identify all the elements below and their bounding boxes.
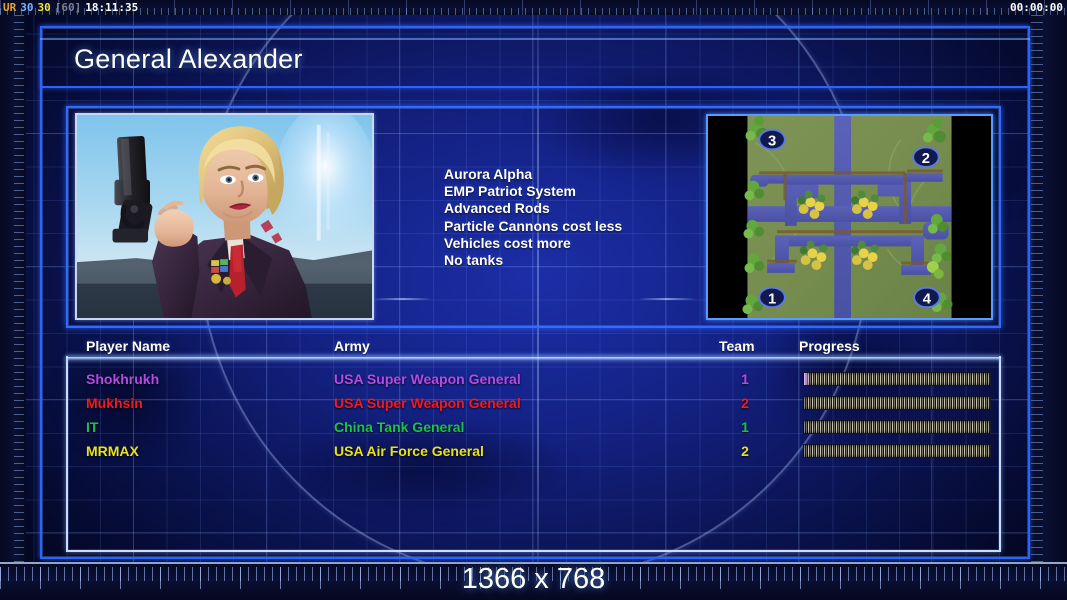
player-progress-bar xyxy=(803,420,991,434)
player-team: 2 xyxy=(734,439,756,463)
player-name: Shokhrukh xyxy=(86,367,159,391)
general-abilities-list: Aurora Alpha EMP Patriot System Advanced… xyxy=(444,166,622,269)
player-table-header: Player Name Army Team Progress xyxy=(66,338,1001,358)
ability-item: Particle Cannons cost less xyxy=(444,218,622,235)
table-row[interactable]: Shokhrukh USA Super Weapon General 1 xyxy=(66,367,1001,391)
status-value-max: [60] xyxy=(55,1,82,14)
player-army: USA Super Weapon General xyxy=(334,391,521,415)
ruler-right xyxy=(1029,15,1067,562)
status-bar-timer: 00:00:00 xyxy=(1010,0,1063,15)
column-header-army: Army xyxy=(334,338,370,354)
minimap-start-1: 1 xyxy=(768,291,776,307)
player-team: 1 xyxy=(734,415,756,439)
minimap-start-4: 4 xyxy=(923,291,932,307)
general-portrait xyxy=(75,113,374,320)
status-bar-left: UR3030[60]18:11:35 xyxy=(3,0,142,15)
player-team: 2 xyxy=(734,391,756,415)
player-progress-bar xyxy=(803,372,991,386)
player-army: China Tank General xyxy=(334,415,464,439)
minimap-start-2: 2 xyxy=(922,151,930,167)
player-name: Mukhsin xyxy=(86,391,143,415)
status-label: UR xyxy=(3,1,16,14)
ability-item: No tanks xyxy=(444,252,622,269)
ability-item: Aurora Alpha xyxy=(444,166,622,183)
ability-item: Advanced Rods xyxy=(444,200,622,217)
player-name: MRMAX xyxy=(86,439,139,463)
table-row[interactable]: Mukhsin USA Super Weapon General 2 xyxy=(66,391,1001,415)
minimap-start-3: 3 xyxy=(768,133,776,149)
ruler-top xyxy=(0,0,1067,15)
player-name: IT xyxy=(86,415,98,439)
panel-tick-right xyxy=(638,298,696,300)
ruler-left xyxy=(0,15,26,562)
player-army: USA Air Force General xyxy=(334,439,484,463)
status-value-current: 30 xyxy=(20,1,33,14)
column-header-team: Team xyxy=(719,338,755,354)
page-title: General Alexander xyxy=(74,44,303,75)
panel-tick-left xyxy=(374,298,432,300)
player-progress-bar xyxy=(803,444,991,458)
column-header-progress: Progress xyxy=(799,338,860,354)
minimap: 3 2 1 4 xyxy=(706,114,993,320)
table-row[interactable]: IT China Tank General 1 xyxy=(66,415,1001,439)
player-team: 1 xyxy=(734,367,756,391)
ability-item: Vehicles cost more xyxy=(444,235,622,252)
loading-screen: UR3030[60]18:11:35 00:00:00 General Alex… xyxy=(0,0,1067,600)
player-list: Shokhrukh USA Super Weapon General 1 Muk… xyxy=(66,360,1001,463)
column-header-player-name: Player Name xyxy=(86,338,170,354)
ability-item: EMP Patriot System xyxy=(444,183,622,200)
player-army: USA Super Weapon General xyxy=(334,367,521,391)
status-value-second: 30 xyxy=(38,1,51,14)
status-clock: 18:11:35 xyxy=(85,1,138,14)
table-row[interactable]: MRMAX USA Air Force General 2 xyxy=(66,439,1001,463)
player-progress-bar xyxy=(803,396,991,410)
resolution-label: 1366 x 768 xyxy=(0,563,1067,596)
